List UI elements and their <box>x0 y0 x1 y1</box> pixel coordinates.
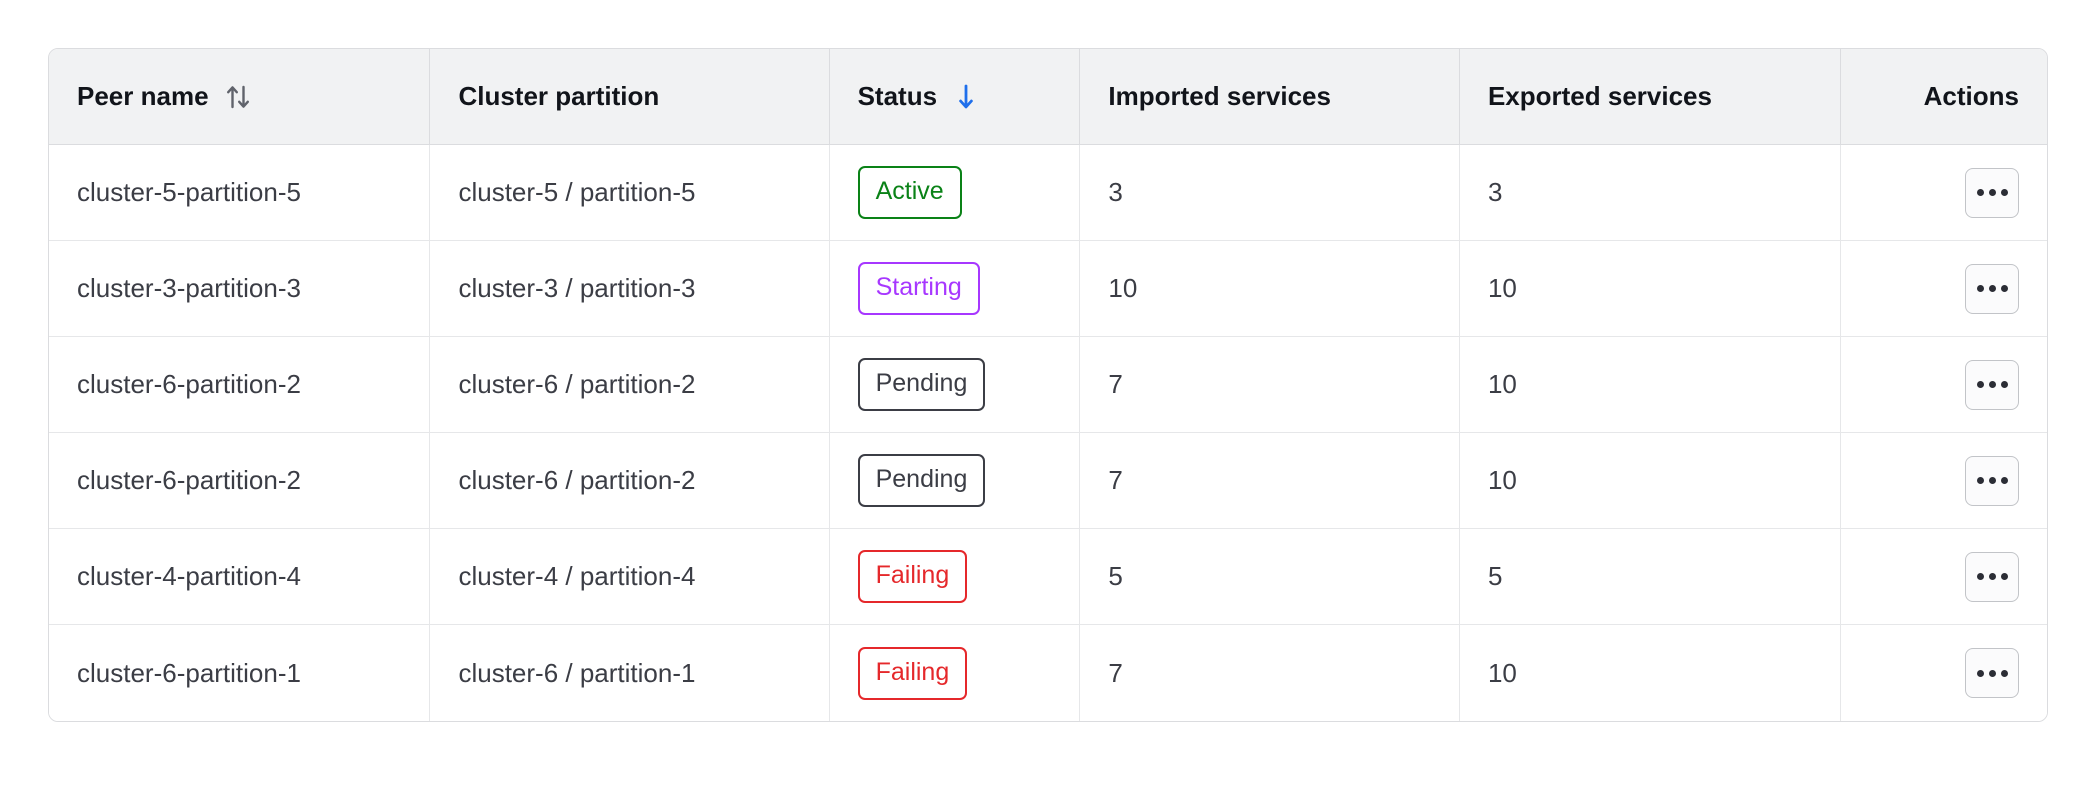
cell-imported-services: 5 <box>1080 529 1460 625</box>
table-row: cluster-6-partition-2 cluster-6 / partit… <box>49 337 2047 433</box>
status-badge: Failing <box>858 550 968 603</box>
column-header-label: Imported services <box>1108 81 1331 112</box>
table-body: cluster-5-partition-5 cluster-5 / partit… <box>49 145 2047 721</box>
table-row: cluster-4-partition-4 cluster-4 / partit… <box>49 529 2047 625</box>
row-actions-menu-button[interactable] <box>1965 648 2019 698</box>
cell-cluster-partition: cluster-6 / partition-2 <box>430 337 829 433</box>
ellipsis-icon <box>1977 189 2008 196</box>
cell-exported-services: 10 <box>1460 433 1842 529</box>
table-header: Peer name Cluster partit <box>49 49 2047 145</box>
cell-status: Failing <box>830 625 1081 721</box>
column-header-status[interactable]: Status <box>830 49 1081 145</box>
cell-actions <box>1841 433 2047 529</box>
column-header-actions: Actions <box>1841 49 2047 145</box>
row-actions-menu-button[interactable] <box>1965 264 2019 314</box>
status-badge: Starting <box>858 262 980 315</box>
cell-status: Pending <box>830 433 1081 529</box>
cell-peer-name: cluster-6-partition-2 <box>49 337 430 433</box>
ellipsis-icon <box>1977 285 2008 292</box>
ellipsis-icon <box>1977 477 2008 484</box>
cell-exported-services: 5 <box>1460 529 1842 625</box>
table-row: cluster-3-partition-3 cluster-3 / partit… <box>49 241 2047 337</box>
table-header-row: Peer name Cluster partit <box>49 49 2047 145</box>
column-header-peer-name[interactable]: Peer name <box>49 49 430 145</box>
column-header-label: Peer name <box>77 81 209 112</box>
column-header-imported-services[interactable]: Imported services <box>1080 49 1460 145</box>
column-header-label: Exported services <box>1488 81 1712 112</box>
status-badge: Failing <box>858 647 968 700</box>
column-header-label: Actions <box>1924 81 2019 112</box>
status-badge: Pending <box>858 454 986 507</box>
cell-imported-services: 3 <box>1080 145 1460 241</box>
sort-arrow-down-icon[interactable] <box>953 82 979 112</box>
sort-both-arrows-icon[interactable] <box>225 82 251 112</box>
column-header-label: Cluster partition <box>458 81 659 112</box>
cell-peer-name: cluster-6-partition-1 <box>49 625 430 721</box>
cell-cluster-partition: cluster-3 / partition-3 <box>430 241 829 337</box>
row-actions-menu-button[interactable] <box>1965 360 2019 410</box>
cell-actions <box>1841 145 2047 241</box>
cell-cluster-partition: cluster-5 / partition-5 <box>430 145 829 241</box>
cell-actions <box>1841 625 2047 721</box>
cell-exported-services: 10 <box>1460 241 1842 337</box>
cell-cluster-partition: cluster-6 / partition-2 <box>430 433 829 529</box>
status-badge: Pending <box>858 358 986 411</box>
column-header-label: Status <box>858 81 937 112</box>
cell-exported-services: 10 <box>1460 337 1842 433</box>
row-actions-menu-button[interactable] <box>1965 456 2019 506</box>
column-header-cluster-partition[interactable]: Cluster partition <box>430 49 829 145</box>
cell-cluster-partition: cluster-4 / partition-4 <box>430 529 829 625</box>
page-container: Peer name Cluster partit <box>0 0 2096 808</box>
table-row: cluster-6-partition-1 cluster-6 / partit… <box>49 625 2047 721</box>
cell-imported-services: 10 <box>1080 241 1460 337</box>
cell-peer-name: cluster-4-partition-4 <box>49 529 430 625</box>
cell-peer-name: cluster-6-partition-2 <box>49 433 430 529</box>
cell-imported-services: 7 <box>1080 337 1460 433</box>
cell-peer-name: cluster-5-partition-5 <box>49 145 430 241</box>
column-header-exported-services[interactable]: Exported services <box>1460 49 1842 145</box>
cell-exported-services: 3 <box>1460 145 1842 241</box>
cell-status: Active <box>830 145 1081 241</box>
cell-status: Failing <box>830 529 1081 625</box>
cell-imported-services: 7 <box>1080 433 1460 529</box>
cell-actions <box>1841 241 2047 337</box>
cell-peer-name: cluster-3-partition-3 <box>49 241 430 337</box>
cell-imported-services: 7 <box>1080 625 1460 721</box>
ellipsis-icon <box>1977 573 2008 580</box>
cell-exported-services: 10 <box>1460 625 1842 721</box>
cell-status: Pending <box>830 337 1081 433</box>
peers-table: Peer name Cluster partit <box>48 48 2048 722</box>
table-row: cluster-6-partition-2 cluster-6 / partit… <box>49 433 2047 529</box>
row-actions-menu-button[interactable] <box>1965 168 2019 218</box>
ellipsis-icon <box>1977 381 2008 388</box>
table-row: cluster-5-partition-5 cluster-5 / partit… <box>49 145 2047 241</box>
cell-cluster-partition: cluster-6 / partition-1 <box>430 625 829 721</box>
cell-actions <box>1841 337 2047 433</box>
row-actions-menu-button[interactable] <box>1965 552 2019 602</box>
status-badge: Active <box>858 166 962 219</box>
cell-status: Starting <box>830 241 1081 337</box>
cell-actions <box>1841 529 2047 625</box>
ellipsis-icon <box>1977 670 2008 677</box>
